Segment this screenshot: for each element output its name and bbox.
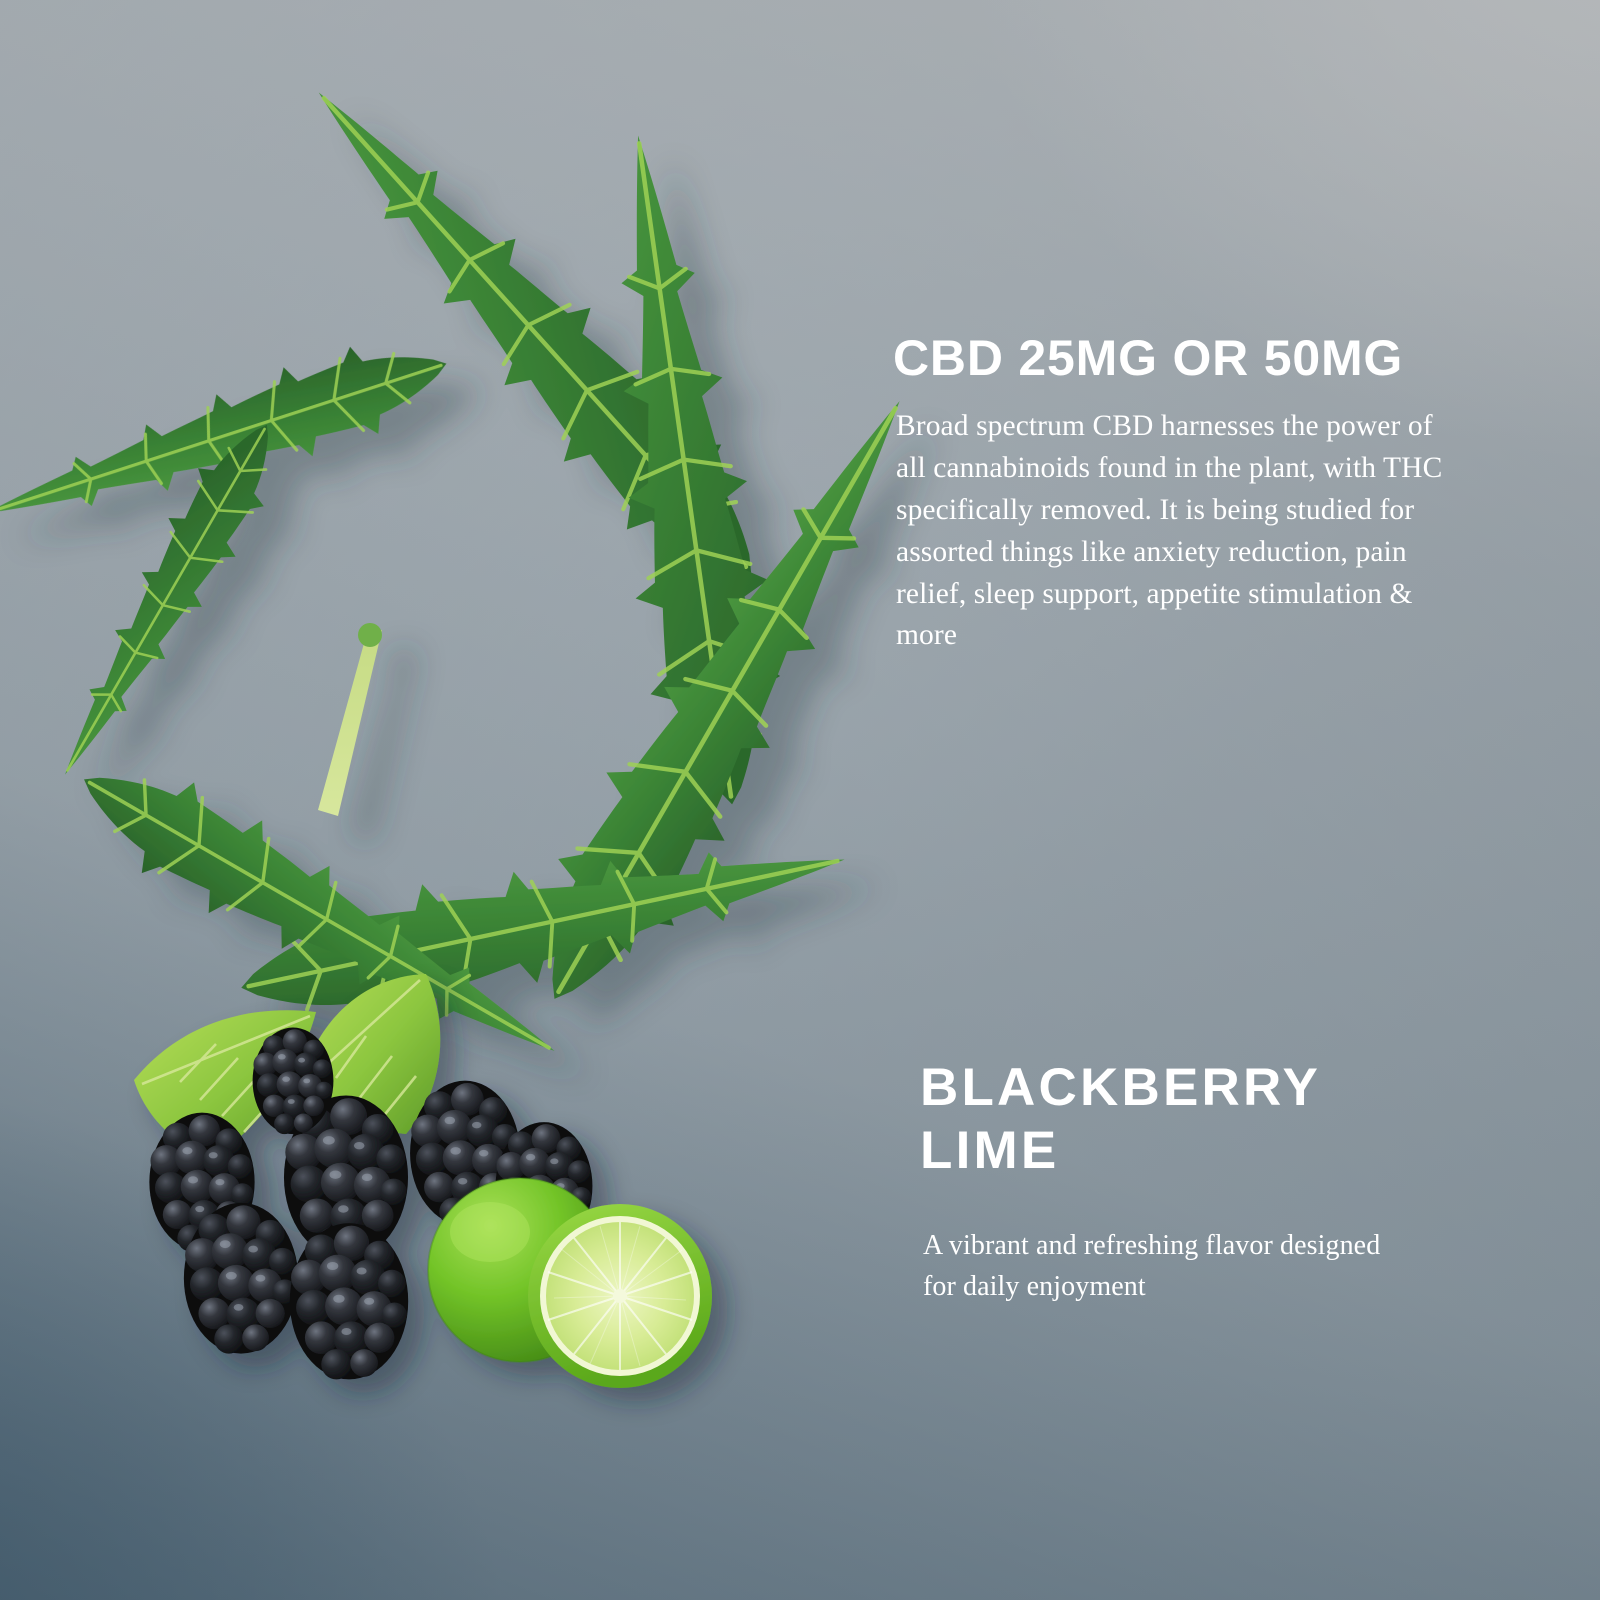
blackberry-lime-image xyxy=(120,960,740,1410)
promo-canvas: CBD 25MG OR 50MG Broad spectrum CBD harn… xyxy=(0,0,1600,1600)
cbd-section: CBD 25MG OR 50MG Broad spectrum CBD harn… xyxy=(893,333,1473,657)
cannabis-leaf-image xyxy=(70,130,860,870)
leaf-stem xyxy=(318,630,382,816)
cannabis-leaf-illustration xyxy=(70,130,860,870)
flavor-section: BLACKBERRY LIME A vibrant and refreshing… xyxy=(920,1057,1480,1307)
flavor-heading-line1: BLACKBERRY xyxy=(920,1057,1480,1120)
lime-half xyxy=(528,1204,712,1388)
cbd-body-text: Broad spectrum CBD harnesses the power o… xyxy=(896,406,1456,657)
leaf-node xyxy=(358,623,382,647)
flavor-body-text: A vibrant and refreshing flavor designed… xyxy=(923,1226,1393,1307)
blackberry-lime-illustration xyxy=(120,960,740,1410)
flavor-heading-line2: LIME xyxy=(920,1120,1480,1183)
cbd-heading: CBD 25MG OR 50MG xyxy=(893,333,1473,384)
